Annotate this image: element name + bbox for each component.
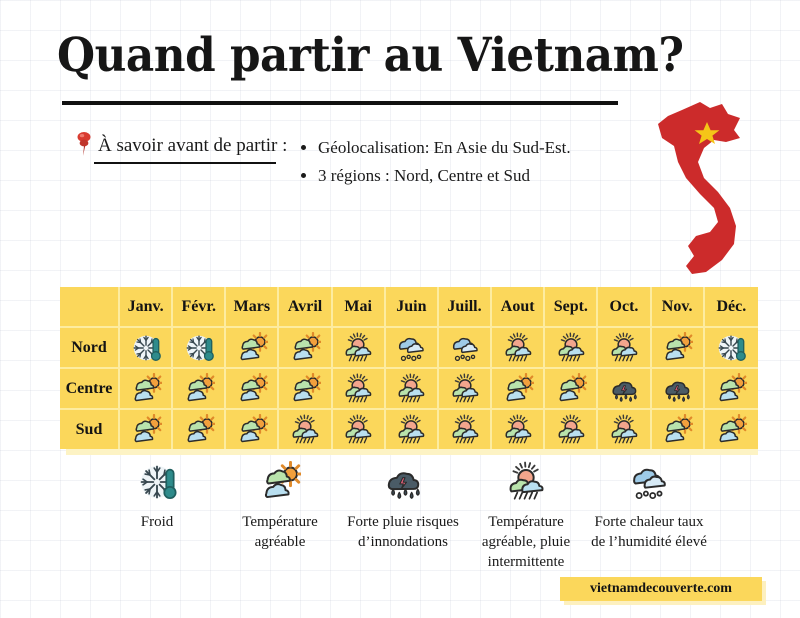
weather-table: Janv. Févr. Mars Avril Mai Juin Juill. A… (60, 287, 758, 449)
weather-cell (173, 369, 226, 410)
subtitle-label: À savoir avant de partir : (98, 135, 287, 157)
list-item: Géolocalisation: En Asie du Sud-Est. (318, 135, 700, 160)
legend-item: Froid (98, 458, 216, 532)
table-row: Nord (60, 328, 758, 369)
storm-cloud-rain-icon (344, 458, 462, 506)
month-header: Avril (279, 287, 332, 328)
month-header: Déc. (705, 287, 758, 328)
pushpin-icon (74, 131, 96, 157)
legend-label: Froid (98, 512, 216, 532)
weather-cell (439, 369, 492, 410)
legend-item: Forte pluie risques d’innondations (344, 458, 462, 552)
legend-label: Forte pluie risques d’innondations (344, 512, 462, 552)
weather-cell (652, 369, 705, 410)
title-divider (62, 101, 618, 105)
weather-cell (333, 328, 386, 369)
table-row: Sud (60, 410, 758, 449)
weather-cell (492, 410, 545, 449)
weather-cell (279, 369, 332, 410)
legend-label: Température agréable, pluie intermittent… (467, 512, 585, 572)
weather-cell (386, 410, 439, 449)
month-header: Oct. (598, 287, 651, 328)
legend: Froid Température agréable Forte pluie r… (98, 458, 708, 572)
month-header: Sept. (545, 287, 598, 328)
weather-cell (439, 328, 492, 369)
footer-badge: vietnamdecouverte.com (560, 577, 762, 601)
weather-cell (226, 328, 279, 369)
page-title: Quand partir au Vietnam? (57, 28, 652, 83)
weather-table-body: Nord (60, 328, 758, 449)
table-header-row: Janv. Févr. Mars Avril Mai Juin Juill. A… (60, 287, 758, 328)
month-header: Aout (492, 287, 545, 328)
weather-cell (120, 328, 173, 369)
weather-cell (120, 410, 173, 449)
weather-cell (279, 410, 332, 449)
weather-cell (226, 410, 279, 449)
weather-cell (598, 328, 651, 369)
month-header: Mars (226, 287, 279, 328)
weather-cell (652, 328, 705, 369)
month-header: Nov. (652, 287, 705, 328)
weather-cell (545, 328, 598, 369)
legend-item: Température agréable, pluie intermittent… (467, 458, 585, 572)
month-header: Juin (386, 287, 439, 328)
weather-cell (598, 410, 651, 449)
list-item: 3 régions : Nord, Centre et Sud (318, 163, 700, 188)
month-header: Juill. (439, 287, 492, 328)
region-label: Centre (60, 369, 120, 410)
legend-item: Forte chaleur taux de l’humidité élevé (590, 458, 708, 552)
month-header: Janv. (120, 287, 173, 328)
weather-cell (120, 369, 173, 410)
weather-cell (652, 410, 705, 449)
sun-cloud-drizzle-icon (467, 458, 585, 506)
weather-cell (705, 328, 758, 369)
weather-cell (226, 369, 279, 410)
legend-label: Forte chaleur taux de l’humidité élevé (590, 512, 708, 552)
weather-cell (439, 410, 492, 449)
table-row: Centre (60, 369, 758, 410)
weather-cell (492, 328, 545, 369)
weather-cell (333, 410, 386, 449)
weather-cell (386, 369, 439, 410)
weather-cell (705, 369, 758, 410)
subtitle-underline (94, 162, 276, 164)
region-label: Sud (60, 410, 120, 449)
weather-cell (492, 369, 545, 410)
weather-cell (598, 369, 651, 410)
weather-cell (386, 328, 439, 369)
region-label: Nord (60, 328, 120, 369)
month-header: Févr. (173, 287, 226, 328)
weather-cell (545, 369, 598, 410)
month-header: Mai (333, 287, 386, 328)
table-corner-cell (60, 287, 120, 328)
vietnam-map-icon (648, 96, 774, 276)
legend-item: Température agréable (221, 458, 339, 552)
snowflake-thermometer-icon (98, 458, 216, 506)
legend-label: Température agréable (221, 512, 339, 552)
cloud-humidity-icon (590, 458, 708, 506)
weather-cell (333, 369, 386, 410)
weather-cell (279, 328, 332, 369)
weather-cell (173, 328, 226, 369)
site-url: vietnamdecouverte.com (590, 581, 732, 597)
weather-cell (545, 410, 598, 449)
weather-cell (705, 410, 758, 449)
sun-behind-cloud-icon (221, 458, 339, 506)
intro-bullets: Géolocalisation: En Asie du Sud-Est. 3 r… (300, 135, 700, 191)
weather-cell (173, 410, 226, 449)
